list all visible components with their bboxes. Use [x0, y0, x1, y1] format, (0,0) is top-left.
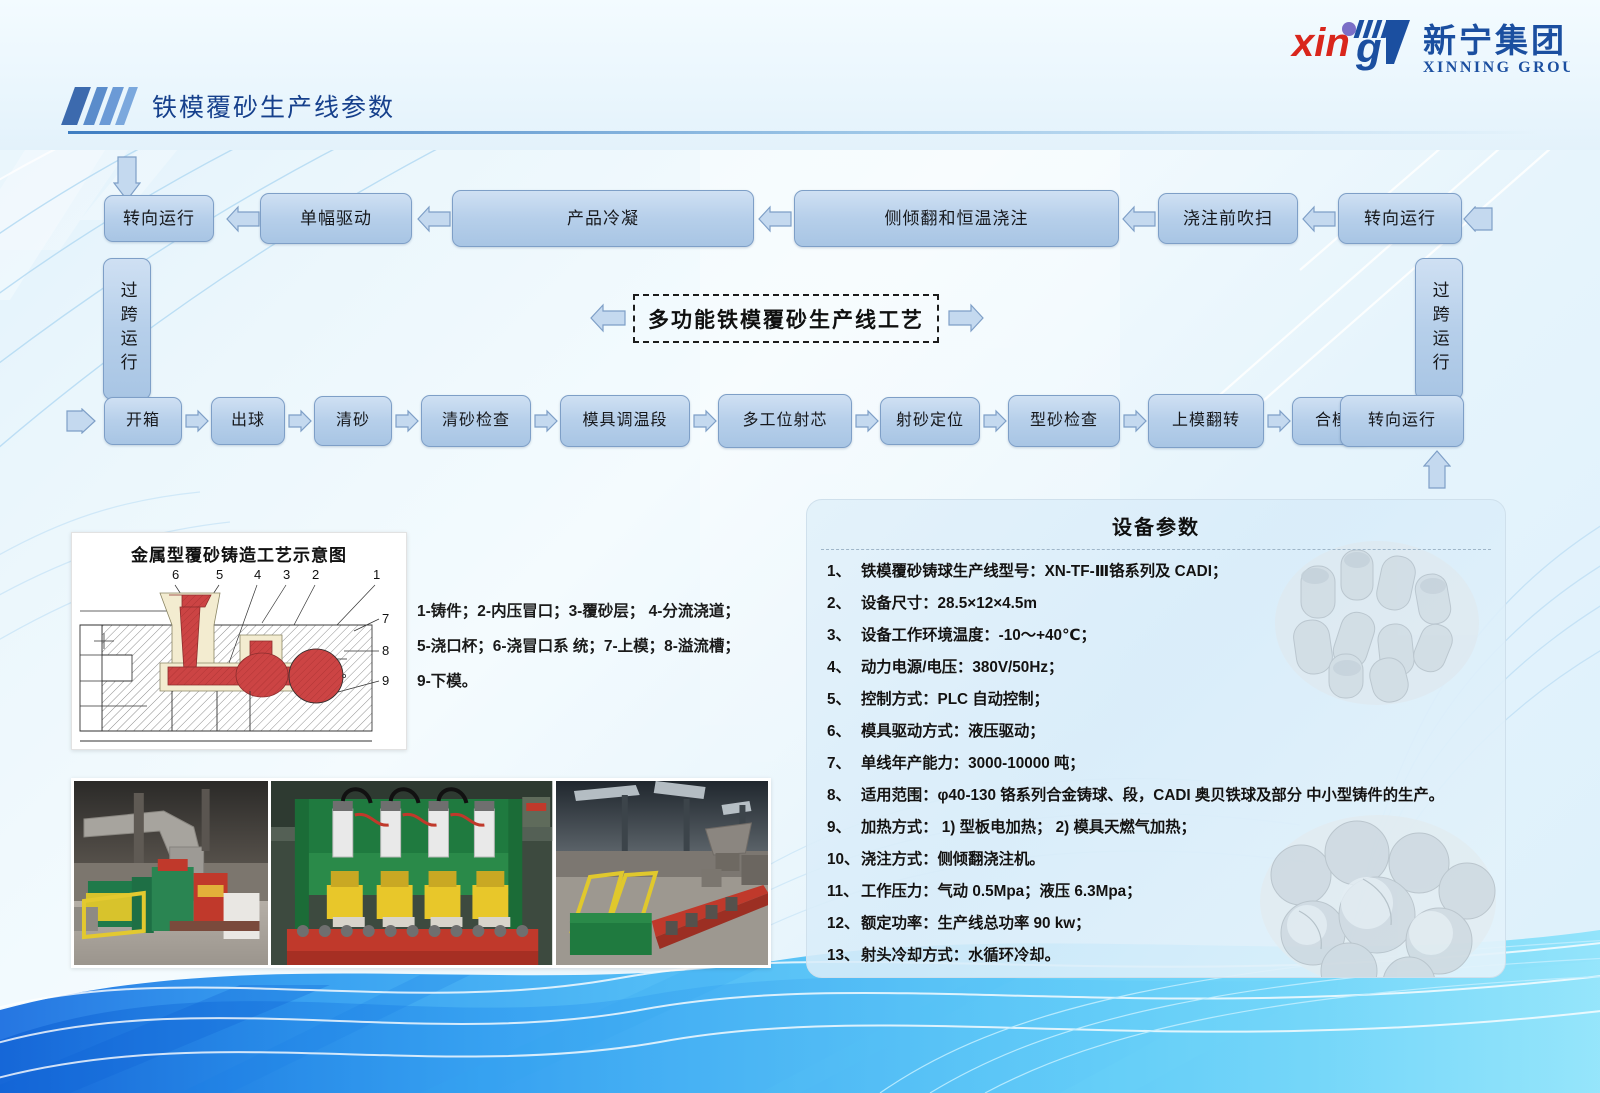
- flow-box-left-vertical[interactable]: 过跨运行: [103, 258, 151, 400]
- flow-box-bottom-4[interactable]: 模具调温段: [560, 395, 690, 447]
- flow-box-label: 侧倾翻和恒温浇注: [885, 208, 1029, 229]
- flow-box-label: 开箱: [126, 411, 160, 431]
- svg-text:新宁集团: 新宁集团: [1423, 22, 1567, 59]
- spec-item: 5、控制方式：PLC 自动控制；: [827, 684, 1505, 716]
- flow-box-top-0[interactable]: 转向运行: [104, 195, 214, 242]
- spec-item-index: 1、: [827, 556, 861, 588]
- flow-box-bottom-2[interactable]: 清砂: [314, 396, 392, 446]
- spec-item: 11、工作压力：气动 0.5Mpa；液压 6.3Mpa；: [827, 876, 1505, 908]
- flow-box-bottom-7[interactable]: 型砂检查: [1008, 395, 1120, 447]
- spec-item-text: 单线年产能力：3000-10000 吨；: [861, 755, 1085, 772]
- flow-box-label: 转向运行: [1364, 208, 1436, 229]
- flow-arrow-bottom-1: [185, 409, 209, 433]
- flow-box-label: 过跨运行: [116, 281, 137, 377]
- spec-item-text: 模具驱动方式：液压驱动；: [861, 723, 1045, 740]
- flow-arrow-exit-up: [1423, 450, 1451, 490]
- spec-item-index: 4、: [827, 652, 861, 684]
- flow-center-label: 多功能铁模覆砂生产线工艺: [648, 304, 924, 334]
- spec-item: 13、射头冷却方式：水循环冷却。: [827, 940, 1505, 972]
- spec-item-text: 动力电源/电压：380V/50Hz；: [861, 659, 1063, 676]
- flow-arrow-bottom-9: [1267, 409, 1291, 433]
- flow-arrow-bottom-6: [855, 409, 879, 433]
- flow-arrow-bottom-entry: [66, 408, 96, 434]
- spec-item-text: 射头冷却方式：水循环冷却。: [861, 947, 1060, 964]
- title-decoration-icon: [68, 87, 134, 125]
- flow-arrow-bottom-8: [1123, 409, 1147, 433]
- equipment-parameters-panel: 设备参数 1、铁模覆砂铸球生产线型号：XN-TF-Ⅲ铬系列及 CADI； 2、设…: [806, 499, 1506, 978]
- flow-box-label: 上模翻转: [1172, 411, 1240, 431]
- spec-item-index: 7、: [827, 748, 861, 780]
- spec-item-index: 10、: [827, 844, 861, 876]
- spec-item: 6、模具驱动方式：液压驱动；: [827, 716, 1505, 748]
- casting-cross-section-drawing: 6 5 4 3 2 1 7 8 9: [72, 563, 407, 750]
- flow-box-top-2[interactable]: 产品冷凝: [452, 190, 754, 247]
- spec-item: 8、适用范围：φ40-130 铬系列合金铸球、段，CADI 奥贝铁球及部分 中小…: [827, 780, 1505, 812]
- flow-box-label: 过跨运行: [1428, 281, 1449, 377]
- spec-item-index: 11、: [827, 876, 861, 908]
- flow-box-label: 转向运行: [1368, 411, 1436, 431]
- flow-box-label: 出球: [231, 411, 265, 431]
- spec-item-text: 加热方式： 1) 型板电加热； 2) 模具天燃气加热；: [861, 819, 1196, 836]
- spec-item: 4、动力电源/电压：380V/50Hz；: [827, 652, 1505, 684]
- flow-box-label: 转向运行: [123, 208, 195, 229]
- flow-arrow-bottom-7: [983, 409, 1007, 433]
- flow-arrow-center-left: [590, 303, 626, 333]
- spec-item: 14、模具：整线模具配置为 60 副。: [827, 972, 1505, 978]
- svg-text:xin: xin: [1290, 21, 1350, 65]
- photo-conveyor-line: [556, 781, 768, 965]
- spec-item-text: 控制方式：PLC 自动控制；: [861, 691, 1049, 708]
- photo-core-shooting-machine: [271, 781, 552, 965]
- callout-2: 2: [312, 567, 319, 582]
- flow-arrow-top-3: [758, 205, 792, 233]
- spec-item-index: 13、: [827, 940, 861, 972]
- callout-3: 3: [283, 567, 290, 582]
- company-logo: xin g 新宁集团 XINNING GROUP: [1290, 12, 1570, 78]
- spec-item-index: 3、: [827, 620, 861, 652]
- spec-item-text: 铁模覆砂铸球生产线型号：XN-TF-Ⅲ铬系列及 CADI；: [861, 563, 1227, 580]
- flow-box-bottom-1[interactable]: 出球: [211, 397, 285, 445]
- callout-4: 4: [254, 567, 261, 582]
- flow-box-bottom-10[interactable]: 转向运行: [1340, 395, 1464, 447]
- flow-box-bottom-8[interactable]: 上模翻转: [1148, 394, 1264, 448]
- flow-box-label: 产品冷凝: [567, 208, 639, 229]
- flow-box-bottom-0[interactable]: 开箱: [104, 397, 182, 445]
- svg-text:XINNING GROUP: XINNING GROUP: [1423, 59, 1570, 76]
- spec-item-index: 12、: [827, 908, 861, 940]
- flow-box-right-vertical[interactable]: 过跨运行: [1415, 258, 1463, 400]
- photo-production-line-overview: [74, 781, 268, 965]
- flow-arrow-bottom-3: [395, 409, 419, 433]
- spec-item: 9、加热方式： 1) 型板电加热； 2) 模具天燃气加热；: [827, 812, 1505, 844]
- flow-arrow-top-5: [1302, 205, 1336, 233]
- callout-1: 1: [373, 567, 380, 582]
- spec-item: 3、设备工作环境温度：-10〜+40℃；: [827, 620, 1505, 652]
- spec-item: 12、额定功率：生产线总功率 90 kw；: [827, 908, 1505, 940]
- diagram-legend: 1-铸件；2-内压冒口；3-覆砂层； 4-分流浇道；5-浇口杯；6-浇冒口系 统…: [417, 594, 747, 699]
- spec-item-text: 设备工作环境温度：-10〜+40℃；: [861, 627, 1096, 644]
- title-underline: [68, 131, 1538, 134]
- spec-items-list: 1、铁模覆砂铸球生产线型号：XN-TF-Ⅲ铬系列及 CADI； 2、设备尺寸：2…: [827, 556, 1505, 978]
- spec-item-text: 工作压力：气动 0.5Mpa；液压 6.3Mpa；: [861, 883, 1141, 900]
- callout-7: 7: [382, 611, 389, 626]
- spec-item-index: 8、: [827, 780, 861, 812]
- spec-item: 7、单线年产能力：3000-10000 吨；: [827, 748, 1505, 780]
- flow-box-label: 射砂定位: [896, 411, 964, 431]
- spec-item: 2、设备尺寸：28.5×12×4.5m: [827, 588, 1505, 620]
- flow-box-top-3[interactable]: 侧倾翻和恒温浇注: [794, 190, 1119, 247]
- spec-item-index: 9、: [827, 812, 861, 844]
- spec-item-index: 2、: [827, 588, 861, 620]
- spec-item: 10、浇注方式：侧倾翻浇注机。: [827, 844, 1505, 876]
- flow-arrow-bottom-4: [534, 409, 558, 433]
- flow-box-bottom-5[interactable]: 多工位射芯: [718, 394, 852, 448]
- flow-arrow-bottom-2: [288, 409, 312, 433]
- spec-item: 1、铁模覆砂铸球生产线型号：XN-TF-Ⅲ铬系列及 CADI；: [827, 556, 1505, 588]
- flow-box-bottom-3[interactable]: 清砂检查: [421, 395, 531, 447]
- process-flow-diagram: 转向运行 单幅驱动 产品冷凝 侧倾翻和恒温浇注: [0, 150, 1600, 490]
- spec-item-text: 额定功率：生产线总功率 90 kw；: [861, 915, 1090, 932]
- flow-box-label: 单幅驱动: [300, 208, 372, 229]
- callout-5: 5: [216, 567, 223, 582]
- spec-item-text: 适用范围：φ40-130 铬系列合金铸球、段，CADI 奥贝铁球及部分 中小型铸…: [861, 787, 1444, 804]
- spec-panel-title: 设备参数: [807, 511, 1505, 540]
- flow-box-top-5[interactable]: 转向运行: [1338, 193, 1462, 244]
- spec-item-index: 14、: [827, 972, 861, 978]
- flow-box-bottom-6[interactable]: 射砂定位: [880, 397, 980, 445]
- callout-6: 6: [172, 567, 179, 582]
- flow-arrow-bottom-5: [693, 409, 717, 433]
- callout-8: 8: [382, 643, 389, 658]
- flow-box-label: 型砂检查: [1030, 411, 1098, 431]
- page-title-row: 铁模覆砂生产线参数: [68, 84, 395, 128]
- flow-box-label: 清砂检查: [442, 411, 510, 431]
- flow-box-label: 多工位射芯: [742, 411, 827, 431]
- flow-box-label: 浇注前吹扫: [1183, 208, 1273, 229]
- flow-arrow-top-2: [417, 205, 451, 233]
- flow-arrow-top-right-entry: [1463, 206, 1493, 232]
- casting-process-diagram-card: 金属型覆砂铸造工艺示意图 6 5 4 3 2 1 7 8: [71, 532, 407, 750]
- flow-box-label: 模具调温段: [582, 411, 667, 431]
- spec-item-text: 浇注方式：侧倾翻浇注机。: [861, 851, 1045, 868]
- flow-box-top-4[interactable]: 浇注前吹扫: [1158, 193, 1298, 244]
- flow-box-label: 清砂: [336, 411, 370, 431]
- poster-page: xin g 新宁集团 XINNING GROUP 铁模覆砂生产线参数: [0, 0, 1600, 1093]
- flow-center-box[interactable]: 多功能铁模覆砂生产线工艺: [633, 294, 939, 343]
- spec-item-text: 设备尺寸：28.5×12×4.5m: [861, 595, 1037, 612]
- spec-item-index: 5、: [827, 684, 861, 716]
- spec-item-index: 6、: [827, 716, 861, 748]
- callout-9: 9: [382, 673, 389, 688]
- spec-panel-divider: [821, 549, 1491, 550]
- flow-arrow-top-4: [1122, 205, 1156, 233]
- factory-photo-strip: [71, 778, 771, 968]
- flow-box-top-1[interactable]: 单幅驱动: [260, 193, 412, 244]
- page-title: 铁模覆砂生产线参数: [152, 88, 395, 124]
- flow-arrow-top-1: [226, 205, 260, 233]
- flow-arrow-center-right: [948, 303, 984, 333]
